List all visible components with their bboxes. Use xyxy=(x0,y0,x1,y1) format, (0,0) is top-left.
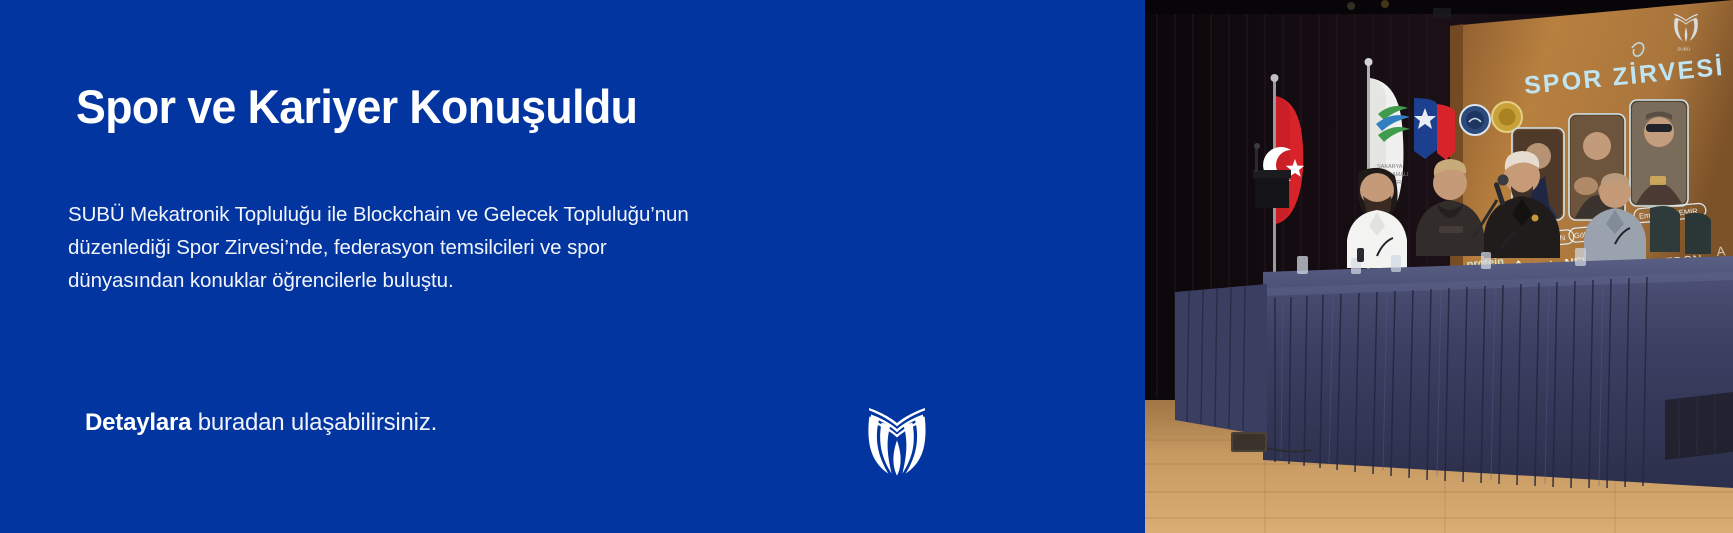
event-photo: SPOR ZİRVESİ xyxy=(1145,0,1733,533)
details-link-text: buradan ulaşabilirsiniz. xyxy=(191,409,437,436)
subu-tulip-logo xyxy=(866,404,928,476)
text-panel: Spor ve Kariyer Konuşuldu SUBÜ Mekatroni… xyxy=(0,0,1145,533)
body-line-2: düzenlediği Spor Zirvesi’nde, federasyon… xyxy=(68,231,768,264)
page-title: Spor ve Kariyer Konuşuldu xyxy=(76,82,637,133)
svg-text:SUBÜ: SUBÜ xyxy=(1677,46,1690,52)
news-banner: Spor ve Kariyer Konuşuldu SUBÜ Mekatroni… xyxy=(0,0,1733,533)
body-copy: SUBÜ Mekatronik Topluluğu ile Blockchain… xyxy=(68,198,768,298)
details-link-emphasis: Detaylara xyxy=(85,409,191,436)
body-line-1: SUBÜ Mekatronik Topluluğu ile Blockchain… xyxy=(68,198,768,231)
details-link[interactable]: Detaylara buradan ulaşabilirsiniz. xyxy=(85,409,437,437)
body-line-3: dünyasından konuklar öğrencilerle buluşt… xyxy=(68,264,768,297)
